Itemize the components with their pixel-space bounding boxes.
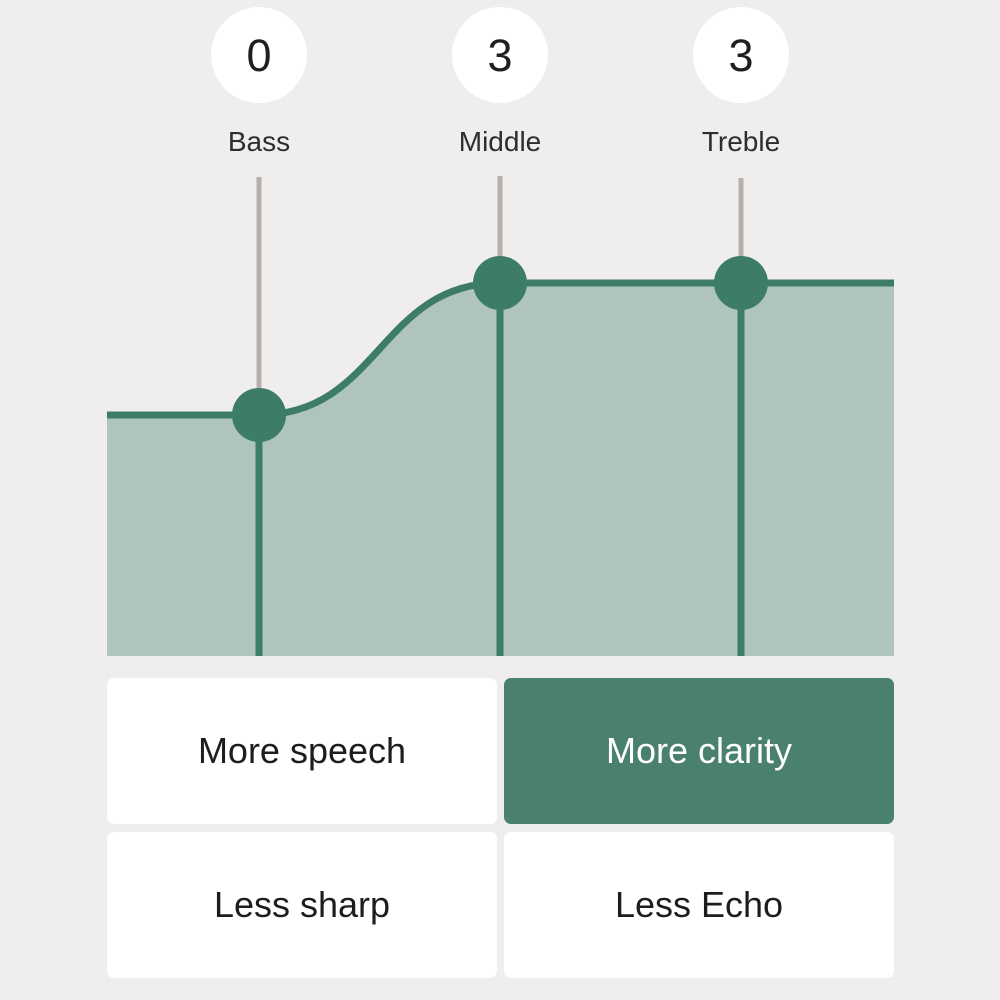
band-label-middle: Middle (380, 128, 620, 156)
band-label-bass: Bass (139, 128, 379, 156)
action-button-label: More speech (198, 733, 406, 769)
slider-knob-bass[interactable] (232, 388, 286, 442)
action-button-label: Less sharp (214, 887, 390, 923)
value-bubble-bass[interactable]: 0 (211, 7, 307, 103)
slider-knob-treble[interactable] (714, 256, 768, 310)
equalizer-region: 0Bass3Middle3Treble (0, 0, 1000, 670)
action-button-more-clarity[interactable]: More clarity (504, 678, 894, 824)
slider-stem-treble (738, 283, 745, 656)
value-bubble-text: 0 (246, 33, 271, 78)
value-bubble-middle[interactable]: 3 (452, 7, 548, 103)
slider-stem-bass (256, 415, 263, 656)
action-button-label: Less Echo (615, 887, 783, 923)
action-button-grid: More speech More clarity Less sharp Less… (107, 678, 894, 978)
action-button-less-sharp[interactable]: Less sharp (107, 832, 497, 978)
action-button-less-echo[interactable]: Less Echo (504, 832, 894, 978)
slider-track-bass[interactable] (257, 177, 262, 415)
value-bubble-treble[interactable]: 3 (693, 7, 789, 103)
equalizer-screen: 0Bass3Middle3Treble More speech More cla… (0, 0, 1000, 1000)
action-button-more-speech[interactable]: More speech (107, 678, 497, 824)
band-label-treble: Treble (621, 128, 861, 156)
slider-knob-middle[interactable] (473, 256, 527, 310)
value-bubble-text: 3 (487, 33, 512, 78)
action-button-label: More clarity (606, 733, 792, 769)
slider-stem-middle (497, 283, 504, 656)
value-bubble-text: 3 (728, 33, 753, 78)
